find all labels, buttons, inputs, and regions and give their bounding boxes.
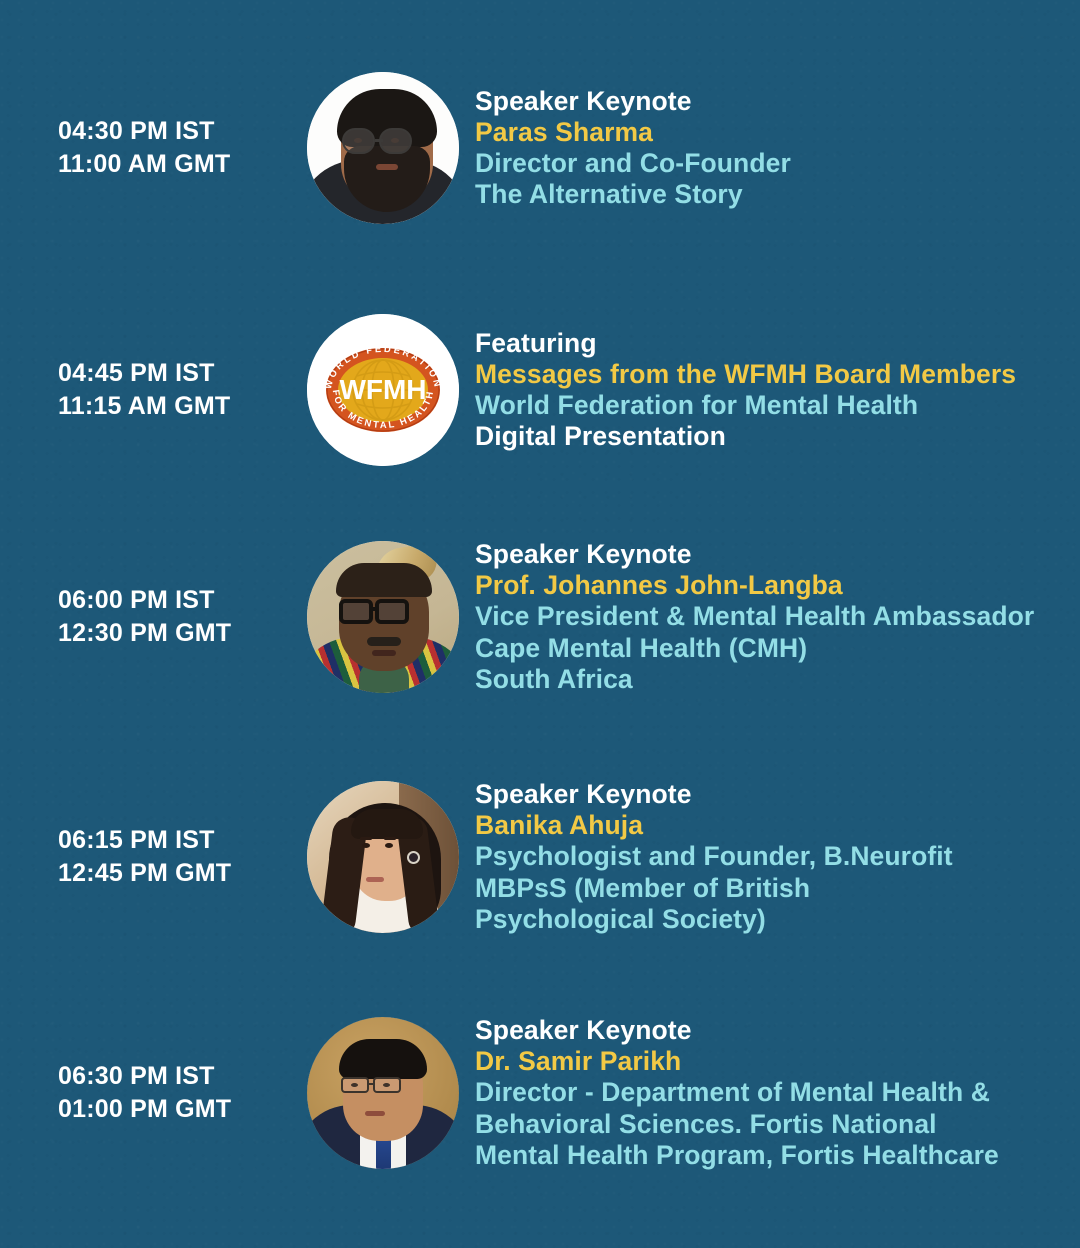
portrait-eyeglass-left: [339, 599, 373, 624]
session-role: Speaker Keynote: [475, 779, 1060, 810]
portrait-mouth: [365, 1111, 385, 1116]
session-session-title: Messages from the WFMH Board Members: [475, 359, 1060, 390]
session-row: 04:45 PM IST 11:15 AM GMT: [0, 300, 1080, 480]
session-role: Speaker Keynote: [475, 1015, 1060, 1046]
session-format: Digital Presentation: [475, 421, 1060, 452]
session-role: Featuring: [475, 328, 1060, 359]
event-schedule-list: 04:30 PM IST 11:00 AM GMT Speaker Keynot…: [0, 0, 1080, 1248]
avatar: WORLD FEDERATION FOR MENTAL HEALTH WFMH: [307, 314, 459, 466]
portrait-hair: [339, 1039, 427, 1079]
portrait-mouth: [372, 650, 396, 656]
session-row: 06:15 PM IST 12:45 PM GMT: [0, 752, 1080, 962]
session-detail: Director and Co-Founder: [475, 148, 1060, 179]
session-speaker-name: Prof. Johannes John-Langba: [475, 570, 1060, 601]
session-speaker-name: Dr. Samir Parikh: [475, 1046, 1060, 1077]
time-ist: 04:30 PM IST: [58, 115, 290, 148]
portrait-brow-right: [384, 837, 396, 840]
time-ist: 06:30 PM IST: [58, 1060, 290, 1093]
portrait-brow-left: [360, 837, 372, 840]
session-detail: World Federation for Mental Health: [475, 390, 1060, 421]
portrait-mustache: [367, 637, 401, 646]
session-time: 04:30 PM IST 11:00 AM GMT: [0, 115, 290, 182]
portrait-eyeglass-right: [373, 1077, 401, 1093]
portrait-eyeglass-right: [375, 599, 409, 624]
session-info: Speaker Keynote Paras Sharma Director an…: [475, 86, 1080, 211]
session-role: Speaker Keynote: [475, 539, 1060, 570]
time-ist: 06:00 PM IST: [58, 584, 290, 617]
session-detail: Behavioral Sciences. Fortis National: [475, 1109, 1060, 1140]
portrait-eye-right: [385, 843, 393, 848]
session-detail: Cape Mental Health (CMH): [475, 633, 1060, 664]
session-row: 04:30 PM IST 11:00 AM GMT Speaker Keynot…: [0, 38, 1080, 258]
time-gmt: 12:45 PM GMT: [58, 857, 290, 890]
avatar: [307, 541, 459, 693]
portrait-eyeglass-right: [379, 128, 412, 154]
portrait-hair: [336, 563, 432, 597]
time-ist: 04:45 PM IST: [58, 357, 290, 390]
session-info: Speaker Keynote Dr. Samir Parikh Directo…: [475, 1015, 1080, 1171]
time-gmt: 11:00 AM GMT: [58, 148, 290, 181]
portrait-mouth: [366, 877, 384, 882]
session-row: 06:30 PM IST 01:00 PM GMT: [0, 988, 1080, 1198]
avatar-container: [290, 72, 475, 224]
portrait-eyeglass-bridge: [375, 139, 383, 142]
svg-text:WFMH: WFMH: [339, 374, 426, 405]
portrait-eyeglass-bridge: [369, 1083, 375, 1085]
avatar-container: [290, 541, 475, 693]
portrait-earring: [407, 851, 420, 864]
time-gmt: 12:30 PM GMT: [58, 617, 290, 650]
session-info: Speaker Keynote Prof. Johannes John-Lang…: [475, 539, 1080, 695]
session-role: Speaker Keynote: [475, 86, 1060, 117]
avatar: [307, 72, 459, 224]
time-ist: 06:15 PM IST: [58, 824, 290, 857]
session-speaker-name: Paras Sharma: [475, 117, 1060, 148]
portrait-mouth: [376, 164, 398, 170]
avatar-container: [290, 781, 475, 933]
avatar-container: [290, 1017, 475, 1169]
session-detail: MBPsS (Member of British: [475, 873, 1060, 904]
session-detail: The Alternative Story: [475, 179, 1060, 210]
session-time: 06:30 PM IST 01:00 PM GMT: [0, 1060, 290, 1127]
portrait-eyeglass-bridge: [373, 607, 379, 611]
portrait-bangs: [351, 809, 423, 839]
session-speaker-name: Banika Ahuja: [475, 810, 1060, 841]
session-time: 04:45 PM IST 11:15 AM GMT: [0, 357, 290, 424]
session-detail: Mental Health Program, Fortis Healthcare: [475, 1140, 1060, 1171]
session-detail: Psychologist and Founder, B.Neurofit: [475, 841, 1060, 872]
session-detail: Psychological Society): [475, 904, 1060, 935]
session-detail: Vice President & Mental Health Ambassado…: [475, 601, 1060, 632]
avatar: [307, 1017, 459, 1169]
avatar: [307, 781, 459, 933]
portrait-eyeglass-left: [342, 128, 375, 154]
session-time: 06:00 PM IST 12:30 PM GMT: [0, 584, 290, 651]
session-detail: South Africa: [475, 664, 1060, 695]
portrait-eye-left: [362, 843, 370, 848]
session-info: Speaker Keynote Banika Ahuja Psychologis…: [475, 779, 1080, 935]
session-time: 06:15 PM IST 12:45 PM GMT: [0, 824, 290, 891]
session-row: 06:00 PM IST 12:30 PM GMT Speaker Keynot…: [0, 512, 1080, 722]
time-gmt: 11:15 AM GMT: [58, 390, 290, 423]
avatar-container: WORLD FEDERATION FOR MENTAL HEALTH WFMH: [290, 314, 475, 466]
session-detail: Director - Department of Mental Health &: [475, 1077, 1060, 1108]
time-gmt: 01:00 PM GMT: [58, 1093, 290, 1126]
wfmh-logo-icon: WORLD FEDERATION FOR MENTAL HEALTH WFMH: [307, 314, 459, 466]
session-info: Featuring Messages from the WFMH Board M…: [475, 328, 1080, 453]
portrait-eyeglass-left: [341, 1077, 369, 1093]
